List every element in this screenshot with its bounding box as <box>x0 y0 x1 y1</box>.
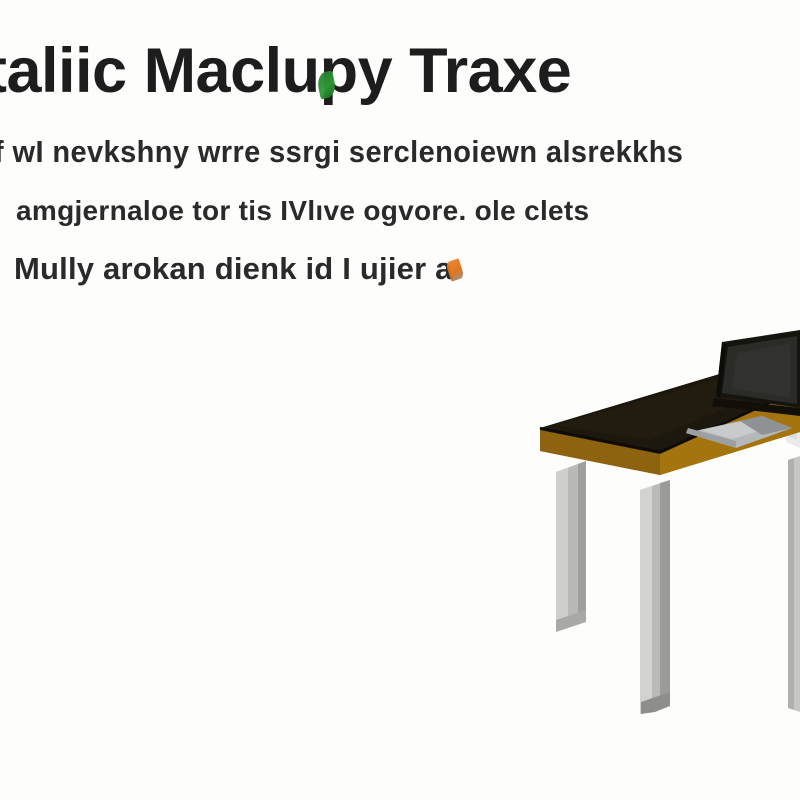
desk-leg-back-right <box>788 456 800 712</box>
document-text-block: taliic Maclupy Traxe f wI nevkshny wrre … <box>0 0 800 310</box>
laptop-screen <box>716 330 800 408</box>
desk-leg-left <box>556 461 586 632</box>
page-title: taliic Maclupy Traxe <box>0 40 571 103</box>
body-line-2: amgjernaloe tor tis IVlıve ogvore. ole c… <box>16 197 589 225</box>
desk-scene-svg <box>500 320 800 740</box>
body-line-3: Mully arokan dienk id I ujier a <box>14 253 453 284</box>
desk-leg-center <box>640 480 670 714</box>
page-canvas: taliic Maclupy Traxe f wI nevkshny wrre … <box>0 0 800 800</box>
body-line-1: f wI nevkshny wrre ssrgi serclenoiewn al… <box>0 138 683 168</box>
desk-illustration <box>500 320 800 740</box>
